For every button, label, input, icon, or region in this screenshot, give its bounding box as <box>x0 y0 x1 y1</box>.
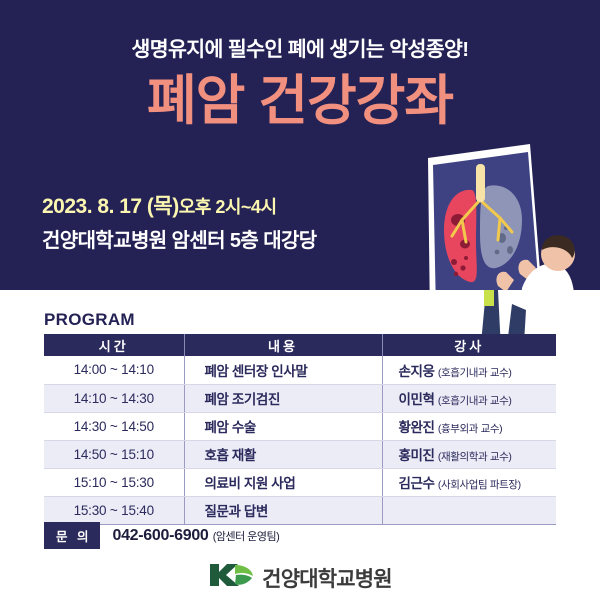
contact-team: (암센터 운영팀) <box>213 531 280 543</box>
poster-title: 폐암 건강강좌 <box>0 72 600 131</box>
table-row: 14:30 ~ 14:50 폐암 수술 황완진 (흉부외과 교수) <box>44 412 556 440</box>
speaker-name: 홍미진 <box>399 448 435 463</box>
cell-speaker <box>382 496 556 524</box>
cell-speaker: 이민혁 (호흡기내과 교수) <box>382 384 556 412</box>
poster: 생명유지에 필수인 폐에 생기는 악성종양! 폐암 건강강좌 2023. 8. … <box>0 0 600 600</box>
event-datetime: 2023. 8. 17 (목)오후 2시~4시 <box>42 190 277 220</box>
program-label: PROGRAM <box>44 310 135 330</box>
speaker-name: 황완진 <box>399 420 435 435</box>
cell-speaker: 손지웅 (호흡기내과 교수) <box>382 356 556 384</box>
speaker-dept: (호흡기내과 교수) <box>438 395 512 407</box>
event-date: 2023. 8. 17 (목) <box>42 195 179 218</box>
speaker-name: 김근수 <box>399 476 435 491</box>
speaker-dept: (재활의학과 교수) <box>438 451 512 463</box>
trachea <box>476 164 485 202</box>
event-time: 오후 2시~4시 <box>179 197 277 217</box>
cell-content: 폐암 센터장 인사말 <box>184 356 382 384</box>
speaker-dept: (사회사업팀 파트장) <box>438 479 521 491</box>
table-row: 14:50 ~ 15:10 호흡 재활 홍미진 (재활의학과 교수) <box>44 440 556 468</box>
cell-content: 폐암 수술 <box>184 412 382 440</box>
cell-time: 15:10 ~ 15:30 <box>44 468 184 496</box>
table-row: 15:10 ~ 15:30 의료비 지원 사업 김근수 (사회사업팀 파트장) <box>44 468 556 496</box>
contact-badge: 문 의 <box>44 522 100 549</box>
contact-row: 문 의042-600-6900 (암센터 운영팀) <box>44 522 279 544</box>
cell-time: 14:10 ~ 14:30 <box>44 384 184 412</box>
cell-speaker: 홍미진 (재활의학과 교수) <box>382 440 556 468</box>
column-header-speaker: 강사 <box>382 334 556 356</box>
cell-speaker: 김근수 (사회사업팀 파트장) <box>382 468 556 496</box>
table-row: 14:10 ~ 14:30 폐암 조기검진 이민혁 (호흡기내과 교수) <box>44 384 556 412</box>
cell-speaker: 황완진 (흉부외과 교수) <box>382 412 556 440</box>
cell-content: 폐암 조기검진 <box>184 384 382 412</box>
cell-time: 14:00 ~ 14:10 <box>44 356 184 384</box>
hospital-name: 건양대학교병원 <box>262 563 392 593</box>
cell-content: 질문과 답변 <box>184 496 382 524</box>
hospital-logo: 건양대학교병원 <box>0 562 600 596</box>
event-venue: 건양대학교병원 암센터 5층 대강당 <box>42 224 317 253</box>
table-row: 14:00 ~ 14:10 폐암 센터장 인사말 손지웅 (호흡기내과 교수) <box>44 356 556 384</box>
cell-time: 14:50 ~ 15:10 <box>44 440 184 468</box>
speaker-dept: (호흡기내과 교수) <box>438 367 512 379</box>
table-header-row: 시간 내용 강사 <box>44 334 556 356</box>
cell-time: 15:30 ~ 15:40 <box>44 496 184 524</box>
column-header-content: 내용 <box>184 334 382 356</box>
program-table: 시간 내용 강사 14:00 ~ 14:10 폐암 센터장 인사말 손지웅 (호… <box>44 334 556 525</box>
ky-logo-icon <box>208 562 254 593</box>
speaker-name: 이민혁 <box>399 392 435 407</box>
cell-content: 호흡 재활 <box>184 440 382 468</box>
phone-number: 042-600-6900 <box>112 527 208 544</box>
poster-subtitle: 생명유지에 필수인 폐에 생기는 악성종양! <box>0 32 600 62</box>
program-panel: PROGRAM 시간 내용 강사 14:00 ~ 14:10 폐암 센터장 인사… <box>0 290 600 600</box>
contact-phone[interactable]: 042-600-6900 (암센터 운영팀) <box>112 527 279 545</box>
speaker-name: 손지웅 <box>399 364 435 379</box>
column-header-time: 시간 <box>44 334 184 356</box>
table-row: 15:30 ~ 15:40 질문과 답변 <box>44 496 556 524</box>
cell-content: 의료비 지원 사업 <box>184 468 382 496</box>
cell-time: 14:30 ~ 14:50 <box>44 412 184 440</box>
speaker-dept: (흉부외과 교수) <box>438 423 502 435</box>
